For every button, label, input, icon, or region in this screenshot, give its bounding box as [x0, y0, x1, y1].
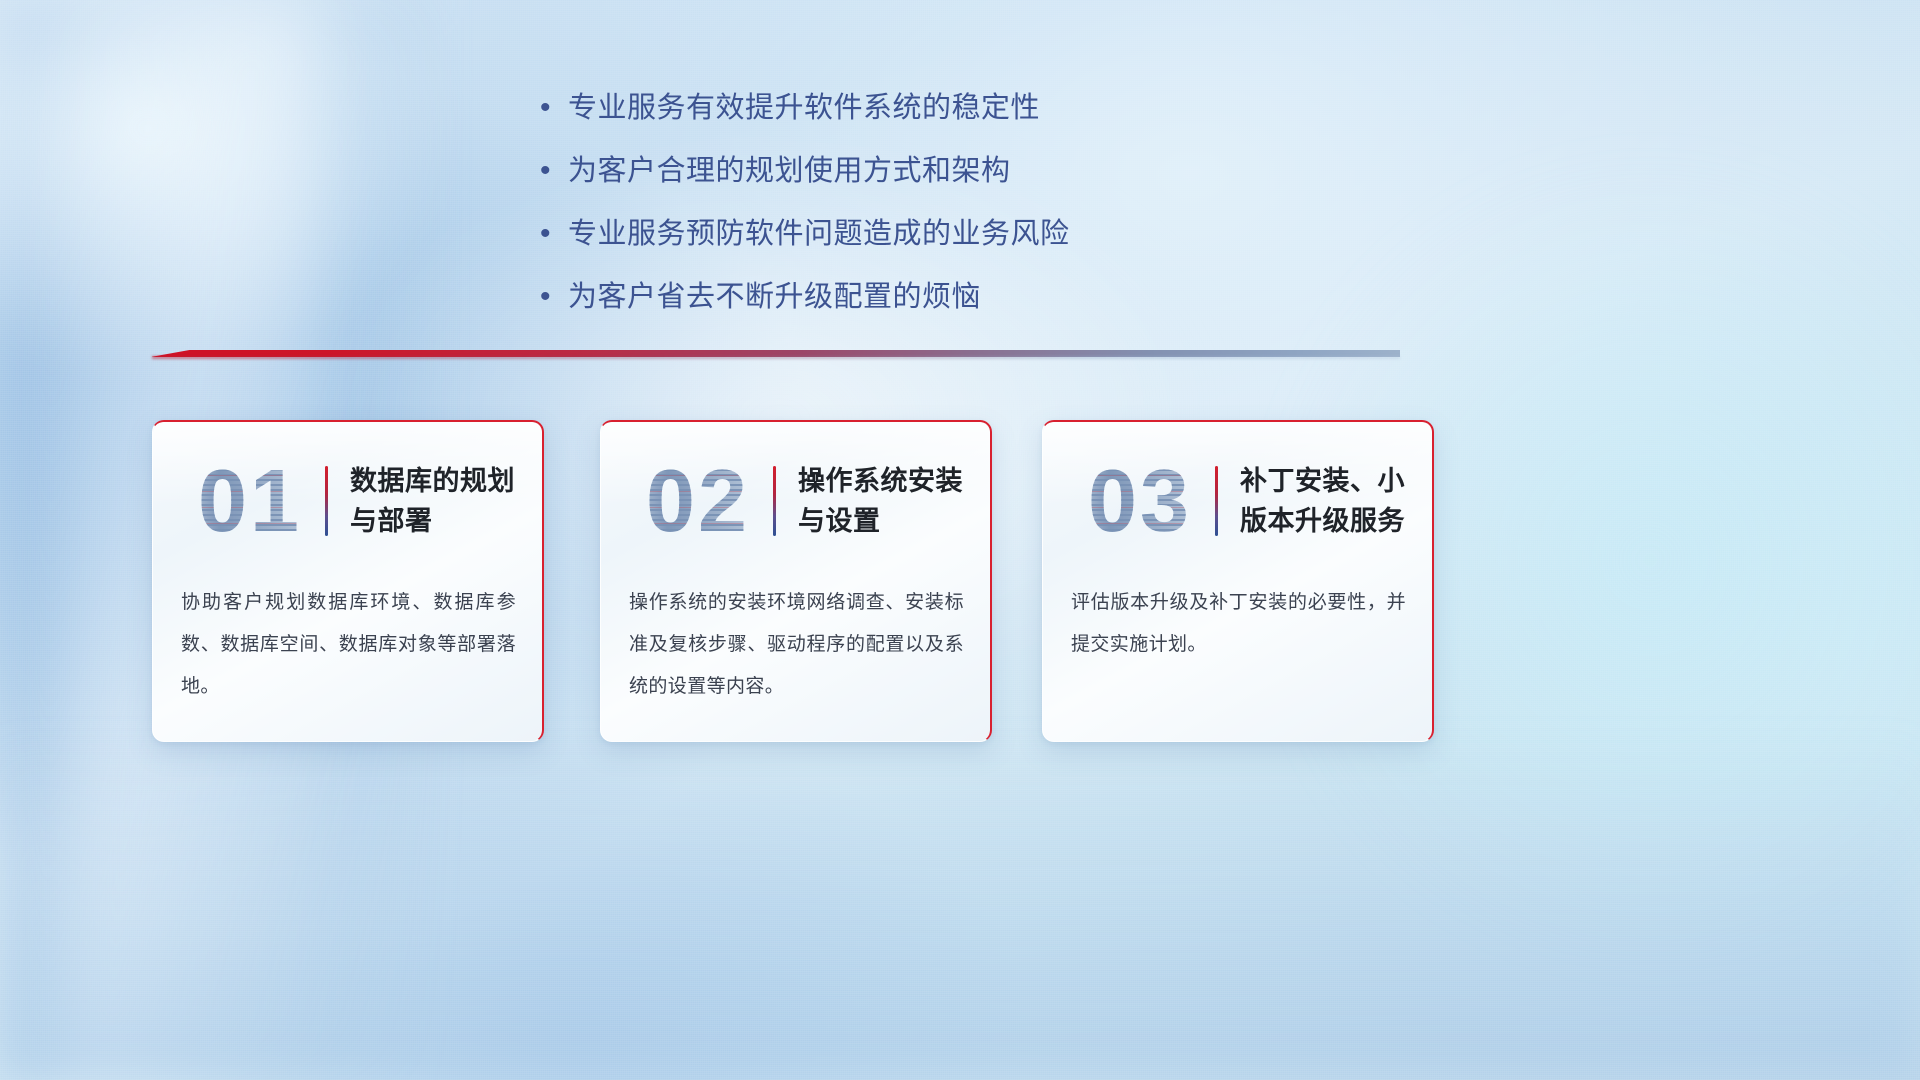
card-title: 补丁安装、小版本升级服务 — [1240, 461, 1432, 541]
card-number-watermark: 01 01 — [175, 446, 325, 556]
divider-shadow — [152, 356, 1400, 359]
list-item: • 为客户省去不断升级配置的烦恼 — [540, 275, 1420, 319]
section-divider — [152, 350, 1400, 362]
list-item: • 为客户合理的规划使用方式和架构 — [540, 149, 1420, 193]
card-header: 01 01 数据库的规划与部署 — [153, 442, 542, 560]
service-card-01[interactable]: 01 01 数据库的规划与部署 协助客户规划数据库环境、数据库参数、数据库空间、… — [152, 420, 544, 742]
service-card-03[interactable]: 03 03 补丁安装、小版本升级服务 评估版本升级及补丁安装的必要性，并提交实施… — [1042, 420, 1434, 742]
bullet-text: 专业服务有效提升软件系统的稳定性 — [568, 86, 1040, 130]
bullet-text: 专业服务预防软件问题造成的业务风险 — [568, 212, 1070, 256]
list-item: • 专业服务有效提升软件系统的稳定性 — [540, 86, 1420, 130]
benefits-bullet-list: • 专业服务有效提升软件系统的稳定性 • 为客户合理的规划使用方式和架构 • 专… — [540, 86, 1420, 338]
card-number-tint: 03 — [1065, 446, 1215, 556]
service-card-02[interactable]: 02 02 操作系统安装与设置 操作系统的安装环境网络调查、安装标准及复核步骤、… — [600, 420, 992, 742]
bullet-dot-icon: • — [540, 149, 568, 193]
list-item: • 专业服务预防软件问题造成的业务风险 — [540, 212, 1420, 256]
bullet-text: 为客户合理的规划使用方式和架构 — [568, 149, 1011, 193]
bullet-dot-icon: • — [540, 86, 568, 130]
card-body-text: 操作系统的安装环境网络调查、安装标准及复核步骤、驱动程序的配置以及系统的设置等内… — [629, 582, 964, 708]
card-number-watermark: 02 02 — [623, 446, 773, 556]
card-divider-bar — [325, 466, 328, 536]
card-divider-bar — [773, 466, 776, 536]
card-body-text: 评估版本升级及补丁安装的必要性，并提交实施计划。 — [1071, 582, 1406, 666]
card-header: 02 02 操作系统安装与设置 — [601, 442, 990, 560]
bullet-dot-icon: • — [540, 275, 568, 319]
card-title: 操作系统安装与设置 — [798, 461, 990, 541]
card-title: 数据库的规划与部署 — [350, 461, 542, 541]
card-divider-bar — [1215, 466, 1218, 536]
card-number-watermark: 03 03 — [1065, 446, 1215, 556]
card-header: 03 03 补丁安装、小版本升级服务 — [1043, 442, 1432, 560]
bullet-text: 为客户省去不断升级配置的烦恼 — [568, 275, 981, 319]
card-number-tint: 01 — [175, 446, 325, 556]
bullet-dot-icon: • — [540, 212, 568, 256]
card-body-text: 协助客户规划数据库环境、数据库参数、数据库空间、数据库对象等部署落地。 — [181, 582, 516, 708]
card-number-tint: 02 — [623, 446, 773, 556]
